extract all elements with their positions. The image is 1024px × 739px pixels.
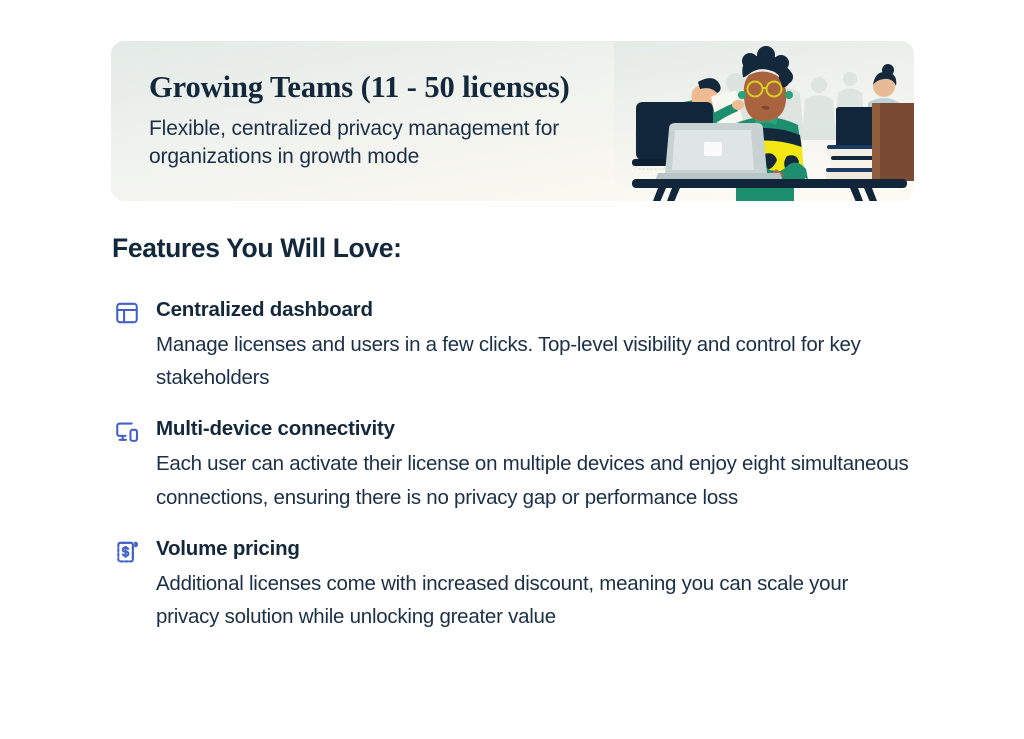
dashboard-layout-icon <box>114 300 140 326</box>
feature-body: Manage licenses and users in a few click… <box>156 328 912 395</box>
feature-item-multi-device-connectivity: Multi-device connectivity Each user can … <box>112 416 912 513</box>
feature-title: Centralized dashboard <box>156 297 912 324</box>
features-list: Centralized dashboard Manage licenses an… <box>112 297 912 633</box>
hero-card: Growing Teams (11 - 50 licenses) Flexibl… <box>111 41 914 201</box>
features-heading: Features You Will Love: <box>112 233 402 264</box>
feature-item-centralized-dashboard: Centralized dashboard Manage licenses an… <box>112 297 912 394</box>
feature-title: Volume pricing <box>156 536 912 563</box>
feature-title: Multi-device connectivity <box>156 416 912 443</box>
hero-subtitle: Flexible, centralized privacy management… <box>149 115 669 170</box>
hero-text-block: Growing Teams (11 - 50 licenses) Flexibl… <box>149 70 669 171</box>
feature-body: Each user can activate their license on … <box>156 447 912 514</box>
feature-item-volume-pricing: Volume pricing Additional licenses come … <box>112 536 912 633</box>
price-tag-dollar-icon <box>114 539 140 565</box>
feature-body: Additional licenses come with increased … <box>156 567 912 634</box>
page-title: Growing Teams (11 - 50 licenses) <box>149 70 669 104</box>
feature-panel-page: Growing Teams (11 - 50 licenses) Flexibl… <box>0 0 1024 739</box>
multi-device-icon <box>114 419 140 445</box>
